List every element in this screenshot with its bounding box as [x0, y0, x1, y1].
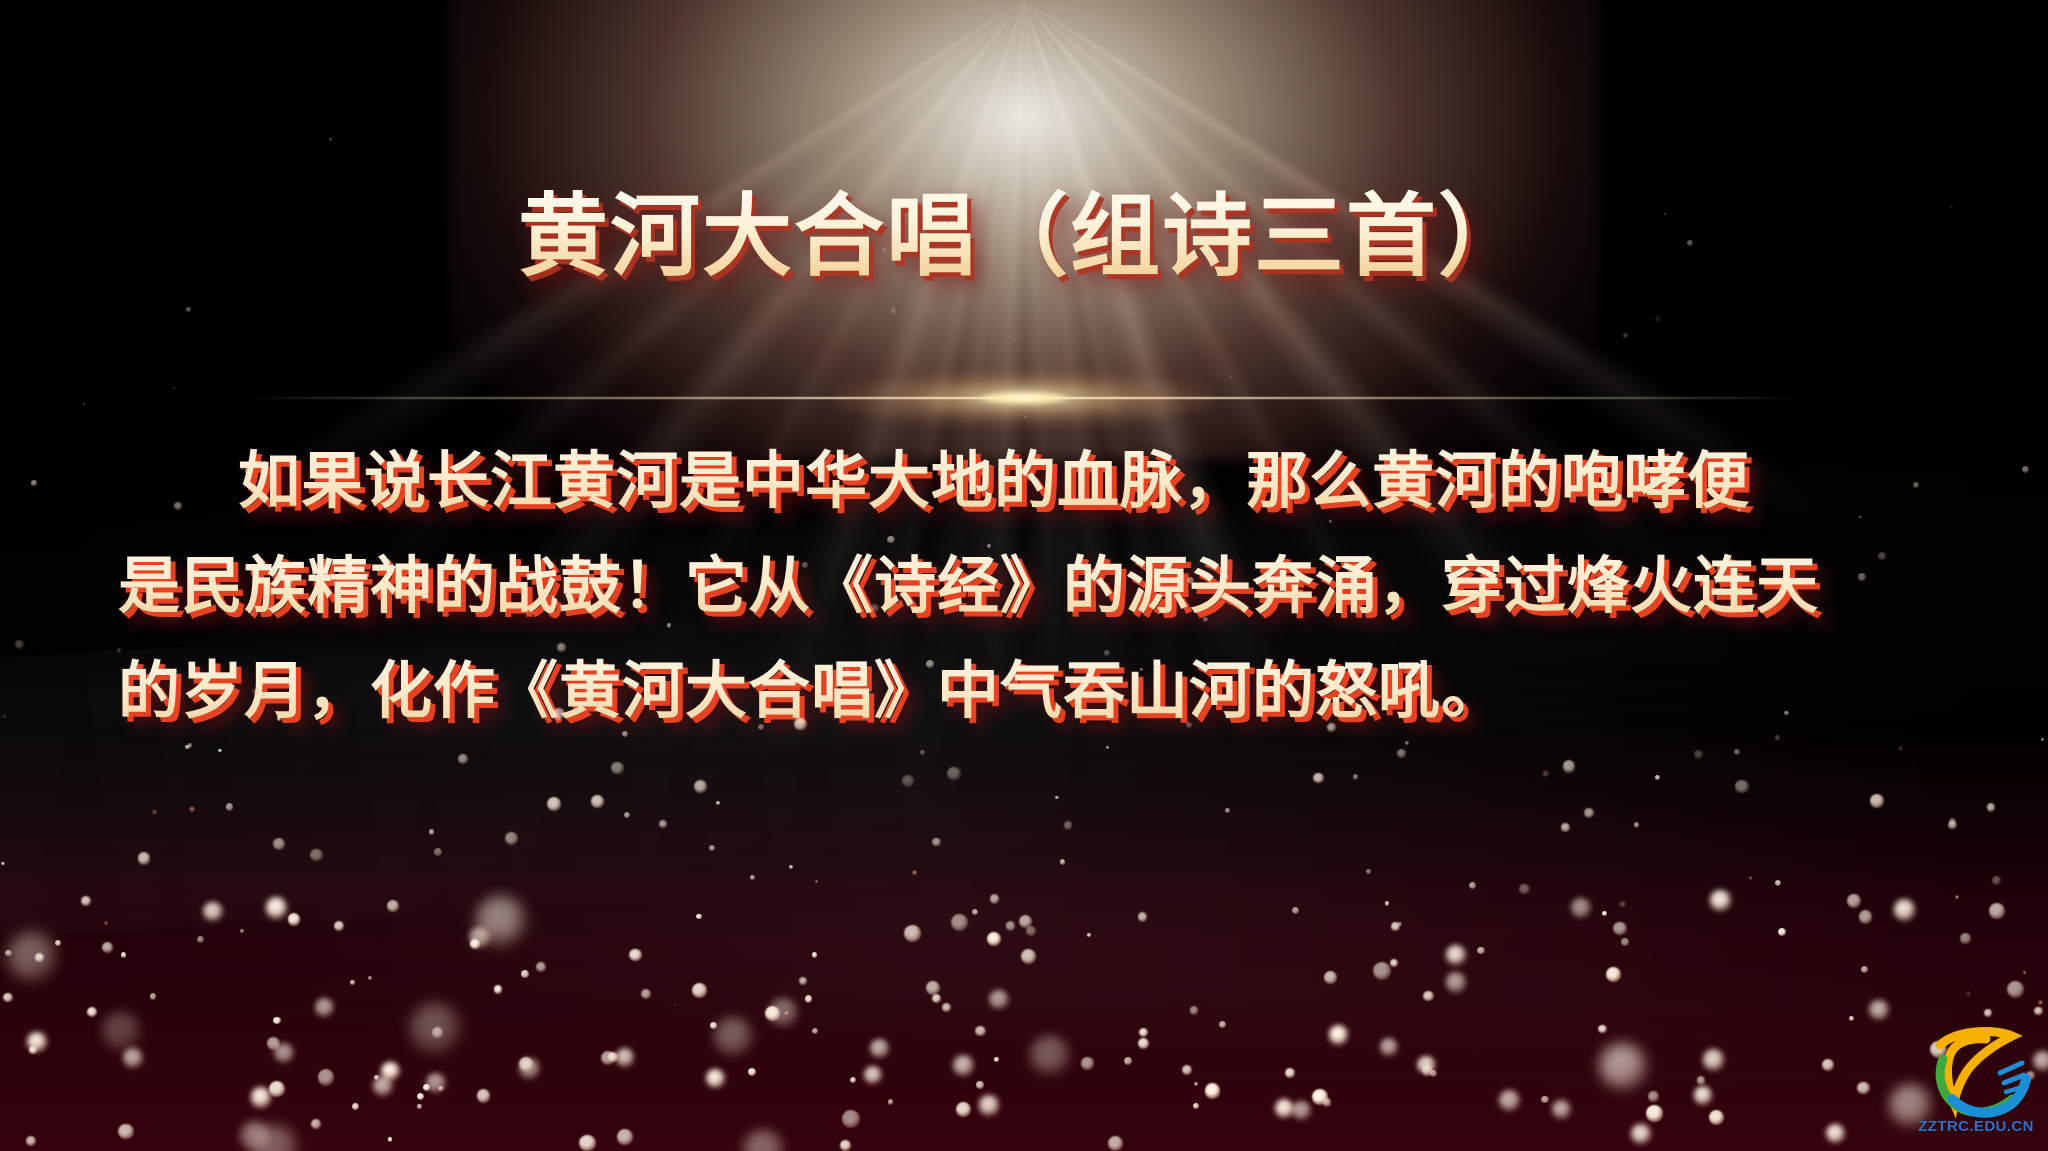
logo-domain-text: ZZTRC.EDU.CN	[1918, 1118, 2034, 1135]
title-block: 黄河大合唱（组诗三首）	[0, 188, 2048, 289]
divider-core-flare	[979, 393, 1069, 404]
body-line-2: 是民族精神的战鼓！它从《诗经》的源头奔涌，穿过烽火连天	[118, 535, 1930, 640]
zztrc-logo-icon: ZZTRC.EDU.CN	[1918, 1019, 2034, 1143]
glowing-divider-line	[244, 395, 1804, 401]
body-line-3: 的岁月，化作《黄河大合唱》中气吞山河的怒吼。	[118, 640, 1930, 745]
body-paragraph: 如果说长江黄河是中华大地的血脉，那么黄河的咆哮便 是民族精神的战鼓！它从《诗经》…	[118, 430, 1930, 745]
bottom-shading	[0, 731, 2048, 1151]
page-title: 黄河大合唱（组诗三首）	[518, 188, 1530, 289]
body-line-1: 如果说长江黄河是中华大地的血脉，那么黄河的咆哮便	[118, 430, 1930, 535]
slide-canvas: 黄河大合唱（组诗三首） 如果说长江黄河是中华大地的血脉，那么黄河的咆哮便 是民族…	[0, 0, 2048, 1151]
